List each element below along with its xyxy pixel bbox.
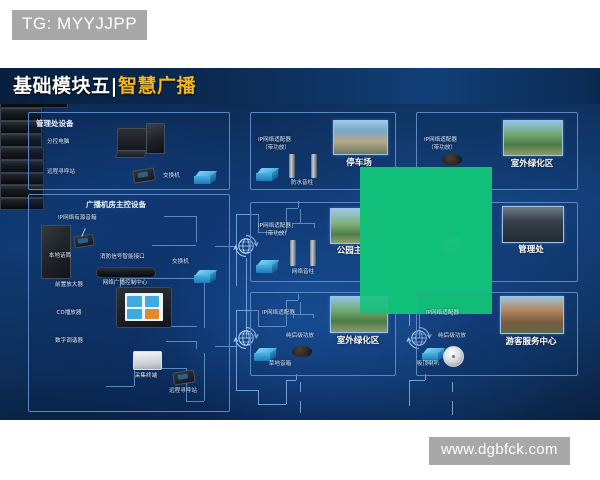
label-adapter-park-road-l1: IP网络适配器 [258,222,291,230]
collection-terminal-device [133,351,162,370]
label-adapter-greenery-top-l1: IP网络适配器 [424,136,457,144]
title-accent: 智慧广播 [118,75,196,97]
label-speaker-park-road: 网络音柱 [292,269,314,276]
diagram-slide: 基础模块五|智慧广播 [0,68,600,420]
label-scene-greenery-bottom: 室外绿化区 [337,338,380,345]
panel-title-control-room: 广播机房主控设备 [86,199,146,210]
slide-header-band: 基础模块五|智慧广播 [0,68,600,104]
label-fire-interface: 消防信号智能接口 [100,254,145,261]
label-speaker-greenery-bottom: 草地音箱 [269,361,291,368]
label-amp-tourist-center: 纯后级功放 [438,333,466,340]
label-adapter-park-road-l2: （带功放） [262,230,290,238]
network-column-right [310,240,316,266]
scene-image-tourist-center [500,296,564,334]
label-scene-greenery-top: 室外绿化区 [511,161,554,168]
label-switch-control-room: 交换机 [172,259,189,266]
label-collect-terminal: 采集终端 [135,373,157,380]
label-speaker-tourist-center: 吸顶喇叭 [417,361,439,368]
wire-seg [286,380,296,381]
label-remote-paging-top: 远程寻呼站 [47,169,75,176]
label-local-mic: 本地话筒 [49,253,71,260]
label-scene-tourist-center: 游客服务中心 [505,339,556,346]
wire-seg [300,382,301,392]
wire-seg [452,382,453,392]
label-scene-mgmt-office: 管理处 [518,247,544,254]
switch-branch-park-road [256,260,278,273]
label-digital-tuner: 数字调谐器 [55,338,83,345]
switch-management [194,171,216,184]
label-speaker-parking: 防水音柱 [291,180,313,187]
label-sub-control-pc: 分控电脑 [47,139,69,146]
wire-seg [258,404,286,405]
switch-branch-greenery-bottom [254,348,276,361]
scene-image-greenery-top [503,120,563,156]
watermark-bottom: www.dgbfck.com [429,437,570,465]
label-ip-active-speaker: IP网络有源音箱 [58,215,97,222]
switch-branch-parking [256,168,278,181]
wire-seg [409,380,425,381]
label-adapter-parking-l2: （带功放） [262,144,290,152]
scene-image-parking [333,120,388,155]
label-preamp: 前置放大器 [55,282,83,289]
title-separator: | [111,75,118,97]
wire-seg [236,346,237,390]
network-column-left [290,240,296,266]
ip-network-active-speaker [41,225,71,279]
wire-seg [286,380,287,404]
label-adapter-tourist-center: IP网络适配器 [426,310,459,317]
sub-control-monitor [117,128,147,151]
wire-seg [409,380,410,406]
scene-image-mgmt-office [502,206,564,243]
label-switch-management: 交换机 [163,173,180,180]
lawn-speaker-greenery-bottom [292,346,312,357]
sub-control-tower [146,123,165,154]
watermark-top: TG: MYYJJPP [12,10,147,40]
label-adapter-greenery-top-l2: （带功放） [428,144,456,152]
title-main: 基础模块五 [13,75,111,97]
label-cd-player: CD播放器 [57,310,82,317]
switch-control-room [194,270,216,283]
label-amp-greenery-bottom: 纯后级功放 [286,333,314,340]
waterproof-column-left [289,154,295,178]
label-broadcast-center: 网络广播控制中心 [103,280,148,287]
lawn-speaker-greenery-top [442,154,462,165]
switch-branch-tourist-center [422,348,444,361]
slide-page: TG: MYYJJPP www.dgbfck.com 基础模块五|智慧广播 [0,0,600,480]
wire-seg [452,401,453,415]
wire-seg [300,401,301,413]
label-remote-paging-bottom: 远程寻呼站 [169,388,197,395]
sub-control-keyboard [115,150,147,158]
waterproof-column-right [311,154,317,178]
control-center-screen[interactable] [125,293,163,321]
panel-title-management: 管理处设备 [36,118,74,129]
ceiling-speaker-tourist-center [443,346,464,367]
label-scene-parking: 停车场 [346,160,372,167]
label-adapter-parking-l1: IP网络适配器 [258,136,291,144]
wire-seg [236,390,258,391]
page-title: 基础模块五|智慧广播 [13,73,196,99]
label-adapter-greenery-bottom: IP网络适配器 [262,310,295,317]
network-broadcast-control-center [116,287,172,328]
fire-signal-interface-device [96,267,156,278]
wire-seg [258,390,259,404]
